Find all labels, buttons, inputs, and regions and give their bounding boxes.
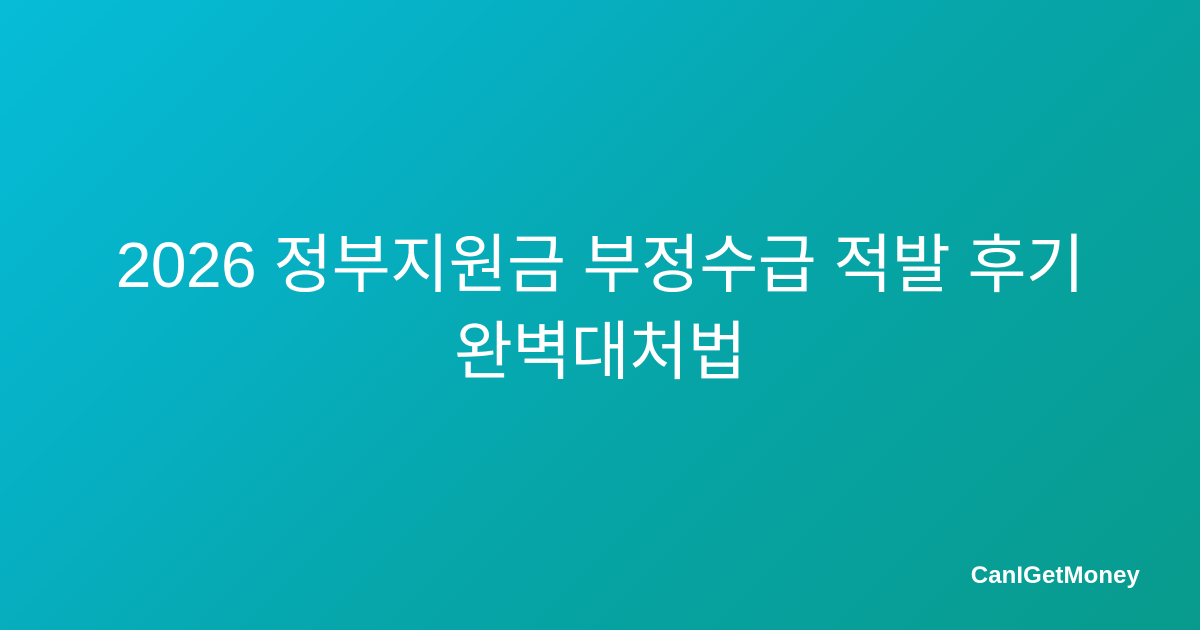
site-brand-label: CanIGetMoney bbox=[971, 564, 1140, 588]
social-share-card: 2026 정부지원금 부정수급 적발 후기 완벽대처법 CanIGetMoney bbox=[0, 0, 1200, 630]
page-title: 2026 정부지원금 부정수급 적발 후기 완벽대처법 bbox=[108, 222, 1092, 408]
